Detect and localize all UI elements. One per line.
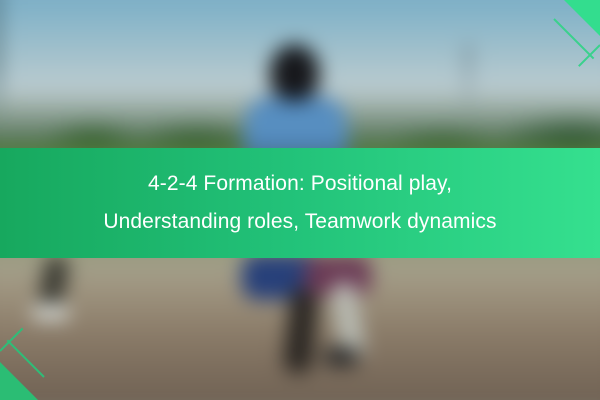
far-post-icon <box>464 44 472 120</box>
player-center-head <box>270 44 320 100</box>
banner: 4-2-4 Formation: Positional play, Unders… <box>0 0 600 400</box>
title-line-2: Understanding roles, Teamwork dynamics <box>103 203 496 241</box>
player-left-shoe <box>32 304 69 321</box>
player-far-right-shoe <box>324 347 359 366</box>
title-band: 4-2-4 Formation: Positional play, Unders… <box>0 148 600 258</box>
title-line-1: 4-2-4 Formation: Positional play, <box>148 165 452 203</box>
corner-triangle-top-right-icon <box>564 0 600 36</box>
